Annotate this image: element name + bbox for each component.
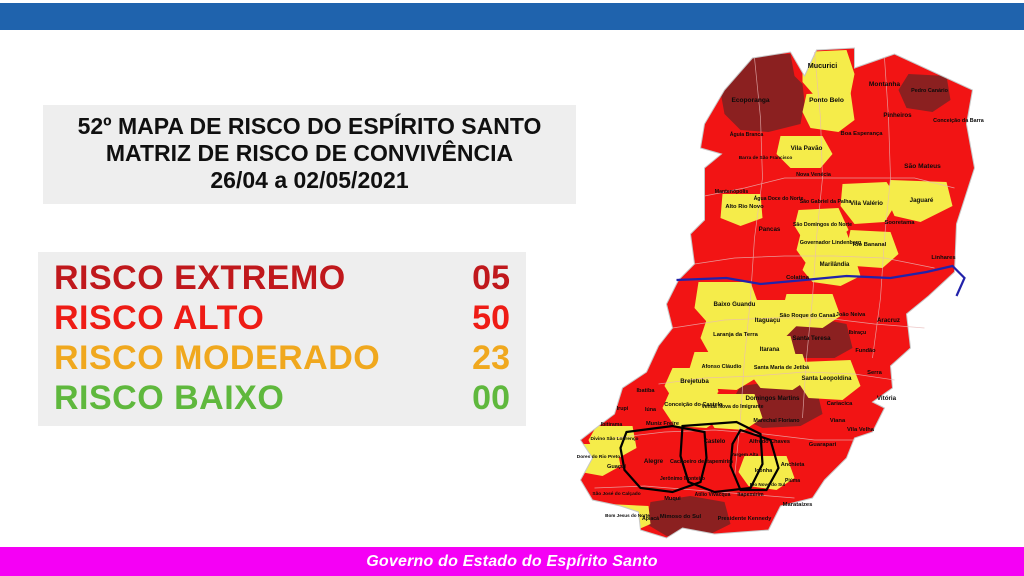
label-ibiracu: Ibiraçu: [849, 330, 867, 336]
legend-count-baixo: 00: [472, 378, 510, 418]
legend-label-alto: RISCO ALTO: [54, 298, 264, 338]
label-muniz-freire: Muniz Freire: [646, 421, 679, 427]
label-mimoso-do-sul: Mimoso do Sul: [660, 514, 702, 520]
label-alto-rio-novo: Alto Rio Novo: [725, 204, 764, 210]
label-mantenopolis: Mantenópolis: [715, 189, 749, 195]
label-santa-teresa: Santa Teresa: [792, 335, 831, 342]
label-cachoeiro-de-itapemirim: Cachoeiro de Itapemirim: [670, 459, 733, 465]
legend-label-extremo: RISCO EXTREMO: [54, 258, 346, 298]
label-rio-novo-do-sul: Rio Novo do Sul: [750, 482, 785, 487]
label-rio-bananal: Rio Bananal: [853, 242, 887, 248]
label-piuma: Piúma: [785, 478, 800, 484]
label-joao-neiva: João Neiva: [836, 312, 866, 318]
title-line-2: MATRIZ DE RISCO DE CONVIVÊNCIA: [49, 140, 570, 167]
title-line-1: 52º MAPA DE RISCO DO ESPÍRITO SANTO: [49, 113, 570, 140]
label-pedro-canario: Pedro Canário: [911, 88, 949, 94]
label-sao-gabriel-da-palha: São Gabriel da Palha: [800, 199, 852, 205]
legend-row-extremo: RISCO EXTREMO 05: [54, 258, 510, 298]
top-blue-bar: [0, 3, 1024, 30]
label-santa-maria-de-jetiba: Santa Maria de Jetibá: [754, 365, 810, 371]
legend-count-moderado: 23: [472, 338, 510, 378]
label-ibatiba: Ibatiba: [636, 388, 655, 394]
label-ibitirama: Ibitirama: [601, 422, 623, 428]
label-venda-nova-do-imigrante: Venda Nova do Imigrante: [702, 404, 764, 410]
map-svg: Mucurici Ponto Belo Ecoporanga Montanha …: [515, 28, 1024, 542]
label-viana: Viana: [830, 418, 846, 424]
label-cariacica: Cariacica: [827, 401, 854, 407]
label-atilio-vivacqua: Atílio Vivácqua: [695, 492, 731, 498]
label-sooretama: Sooretama: [885, 220, 916, 226]
label-pancas: Pancas: [759, 226, 781, 233]
label-guacui: Guaçuí: [607, 464, 626, 470]
title-line-3: 26/04 a 02/05/2021: [49, 167, 570, 194]
legend-count-extremo: 05: [472, 258, 510, 298]
label-linhares: Linhares: [931, 255, 955, 261]
label-mucurici: Mucurici: [808, 61, 838, 70]
label-serra: Serra: [867, 370, 883, 376]
label-barra-de-sao-francisco: Barra de São Francisco: [739, 155, 793, 161]
label-conceicao-da-barra: Conceição da Barra: [933, 118, 985, 124]
label-guarapari: Guarapari: [809, 442, 837, 448]
legend-count-alto: 50: [472, 298, 510, 338]
footer-bar: Governo do Estado do Espírito Santo: [0, 547, 1024, 576]
label-vila-pavao: Vila Pavão: [791, 145, 823, 152]
label-marilandia: Marilândia: [820, 262, 850, 268]
label-baixo-guandu: Baixo Guandu: [714, 301, 756, 308]
legend-row-alto: RISCO ALTO 50: [54, 298, 510, 338]
risk-map: Mucurici Ponto Belo Ecoporanga Montanha …: [515, 28, 1024, 542]
label-dores-do-rio-preto: Dores do Rio Preto: [577, 454, 621, 460]
legend-label-baixo: RISCO BAIXO: [54, 378, 284, 418]
label-muqui: Muqui: [664, 496, 681, 502]
region-extremo-ecoporanga: [721, 54, 805, 132]
label-itarana: Itarana: [760, 347, 780, 353]
label-vila-valerio: Vila Valério: [850, 200, 883, 207]
label-presidente-kennedy: Presidente Kennedy: [718, 516, 773, 522]
label-aracruz: Aracruz: [877, 317, 900, 324]
label-santa-leopoldina: Santa Leopoldina: [801, 376, 852, 382]
label-apiaca: Apiacá: [642, 516, 659, 522]
label-laranja-da-terra: Laranja da Terra: [713, 332, 758, 338]
label-montanha: Montanha: [869, 81, 900, 88]
risk-legend: RISCO EXTREMO 05 RISCO ALTO 50 RISCO MOD…: [38, 252, 526, 426]
label-brejetuba: Brejetuba: [680, 378, 709, 385]
label-sao-domingos-do-norte: São Domingos do Norte: [793, 222, 852, 228]
label-iconha: Iconha: [755, 468, 773, 474]
label-agua-doce-do-norte: Água Doce do Norte: [754, 195, 804, 202]
label-irupi: Irupi: [617, 406, 629, 412]
label-castelo: Castelo: [704, 439, 726, 445]
legend-row-moderado: RISCO MODERADO 23: [54, 338, 510, 378]
region-moderado-mucurici: [803, 50, 855, 98]
title-box: 52º MAPA DE RISCO DO ESPÍRITO SANTO MATR…: [43, 105, 576, 204]
label-itapemirim: Itapemirim: [737, 492, 764, 498]
legend-label-moderado: RISCO MODERADO: [54, 338, 380, 378]
label-marechal-floriano: Marechal Floriano: [753, 418, 800, 424]
footer-text: Governo do Estado do Espírito Santo: [366, 553, 657, 571]
label-nova-venecia: Nova Venécia: [796, 172, 832, 178]
label-ecoporanga: Ecoporanga: [731, 97, 769, 104]
label-jeronimo-monteiro: Jerônimo Monteiro: [660, 476, 705, 482]
label-fundao: Fundão: [855, 348, 876, 354]
label-iuna: Iúna: [645, 407, 657, 413]
label-jaguare: Jaguaré: [910, 197, 934, 204]
label-colatina: Colatina: [786, 275, 810, 281]
label-vila-velha: Vila Velha: [847, 427, 875, 433]
label-anchieta: Anchieta: [781, 462, 806, 468]
label-sao-mateus: São Mateus: [904, 163, 941, 170]
label-vitoria: Vitória: [877, 395, 897, 402]
label-divino-sao-lourenco: Divino São Lourenço: [591, 436, 639, 442]
label-afonso-claudio: Afonso Cláudio: [702, 364, 743, 370]
legend-row-baixo: RISCO BAIXO 00: [54, 378, 510, 418]
label-marataizes: Marataízes: [783, 502, 813, 508]
slide-canvas: 52º MAPA DE RISCO DO ESPÍRITO SANTO MATR…: [0, 0, 1024, 576]
label-itaguacu: Itaguaçu: [755, 317, 781, 324]
label-boa-esperanca: Boa Esperança: [841, 131, 884, 137]
label-alegre: Alegre: [644, 458, 664, 465]
label-domingos-martins: Domingos Martins: [746, 395, 801, 402]
label-sao-jose-do-calcado: São José do Calçado: [592, 491, 640, 497]
label-sao-roque-do-canaa: São Roque do Canaã: [780, 313, 837, 319]
label-alfredo-chaves: Alfredo Chaves: [749, 439, 790, 445]
label-pinheiros: Pinheiros: [883, 112, 912, 119]
label-ponto-belo: Ponto Belo: [809, 97, 844, 104]
label-aguia-branca: Águia Branca: [730, 131, 764, 138]
label-vargem-alta: Vargem Alta: [731, 452, 759, 458]
